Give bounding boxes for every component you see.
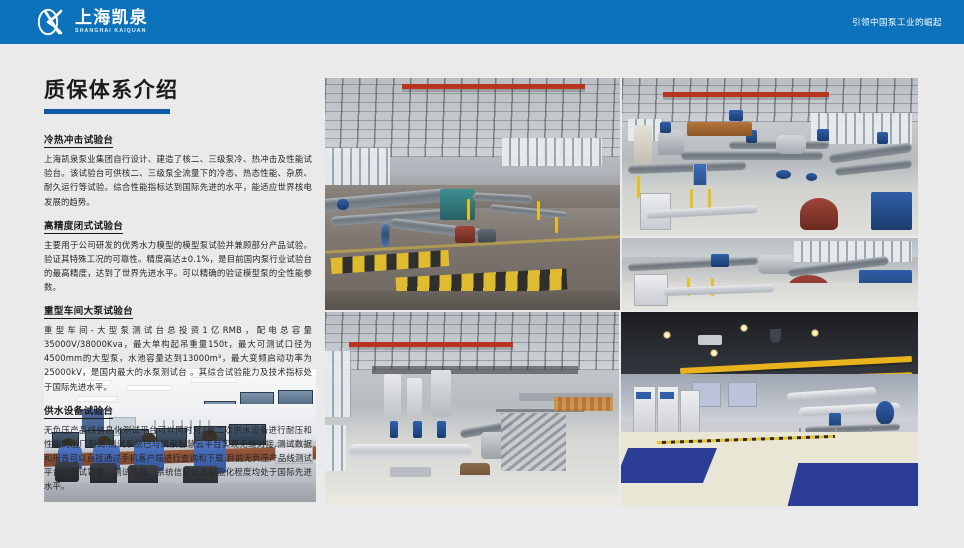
section-water-supply: 供水设备试验台 无负压产品线信息化测试平台可以同时对7套二次供水设备进行耐压和性… (44, 401, 312, 494)
section-heavy-workshop: 重型车间大泵试验台 重型车间-大型泵测试台总投资1亿RMB，配电总容量35000… (44, 301, 312, 394)
section-body: 上海凯泉泵业集团自行设计、建造了核二、三级泵冷、热冲击及性能试验台。该试验台可供… (44, 152, 312, 208)
section-heading: 重型车间大泵试验台 (44, 303, 133, 319)
section-body: 重型车间-大型泵测试台总投资1亿RMB，配电总容量35000V/38000Kva… (44, 323, 312, 394)
slide-canvas: 上海凯泉 SHANGHAI KAIQUAN 引领中国泵工业的崛起 质保体系介绍 … (0, 0, 964, 548)
brand-name-en: SHANGHAI KAIQUAN (75, 29, 149, 34)
section-body: 主要用于公司研发的优秀水力模型的模型泵试验并兼顾部分产品试验。验证其特殊工况的可… (44, 238, 312, 294)
section-heading: 供水设备试验台 (44, 403, 113, 419)
section-heading: 冷热冲击试验台 (44, 132, 113, 148)
section-high-precision-closed: 高精度闭式试验台 主要用于公司研发的优秀水力模型的模型泵试验并兼顾部分产品试验。… (44, 216, 312, 294)
section-cold-hot-shock: 冷热冲击试验台 上海凯泉泵业集团自行设计、建造了核二、三级泵冷、热冲击及性能试验… (44, 130, 312, 208)
brand-logo[interactable]: 上海凯泉 SHANGHAI KAIQUAN (36, 7, 148, 37)
photo-high-precision-closed-test-bench (622, 78, 918, 236)
brand-name-cn: 上海凯泉 (75, 10, 148, 27)
page-title: 质保体系介绍 (44, 78, 312, 103)
photo-water-supply-equipment-lab (621, 312, 918, 506)
photo-pump-skid-close-up (622, 238, 918, 310)
photo-cold-hot-shock-test-bench-hall (325, 78, 620, 310)
kaiquan-pump-logo-icon (36, 7, 68, 37)
title-underline-rule (44, 109, 170, 114)
section-heading: 高精度闭式试验台 (44, 218, 123, 234)
header-tagline: 引领中国泵工业的崛起 (852, 0, 942, 44)
photo-heavy-workshop-large-pump-hall (325, 312, 619, 506)
header-bar: 上海凯泉 SHANGHAI KAIQUAN 引领中国泵工业的崛起 (0, 0, 964, 44)
section-body: 无负压产品线信息化测试平台可以同时对7套二次供水设备进行耐压和性能的出厂测试.测… (44, 423, 312, 494)
content-text-column: 质保体系介绍 冷热冲击试验台 上海凯泉泵业集团自行设计、建造了核二、三级泵冷、热… (44, 78, 312, 500)
